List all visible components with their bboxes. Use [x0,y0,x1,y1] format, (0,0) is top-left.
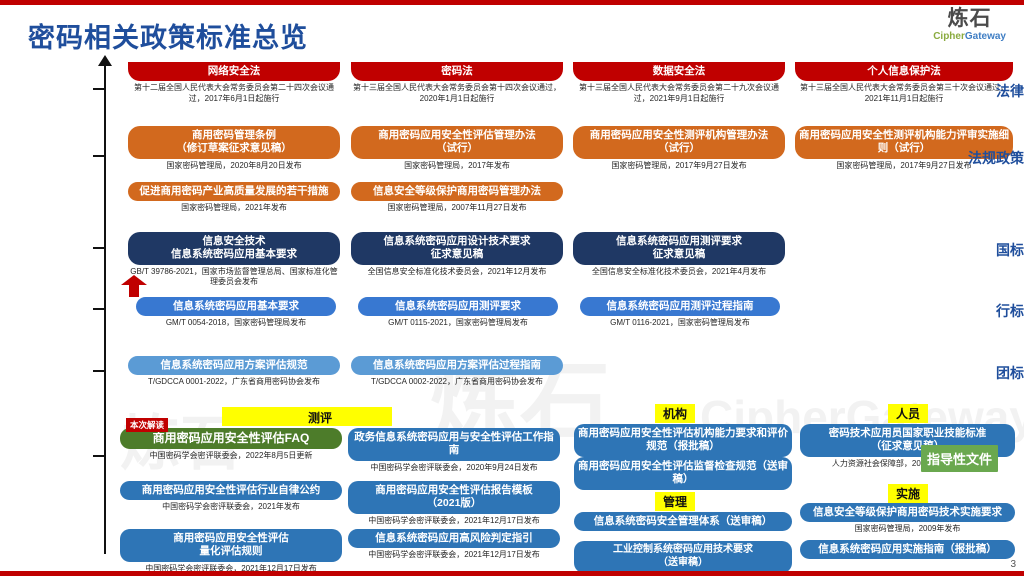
card-subtitle: 国家密码管理局，2021年发布 [128,201,340,213]
axis-tick-group [93,370,104,372]
card-regulation-1[interactable]: 商用密码应用安全性评估管理办法 （试行） 国家密码管理局，2017年发布 [351,126,563,171]
page-title: 密码相关政策标准总览 [28,16,308,55]
card-subtitle: 国家密码管理局，2017年9月27日发布 [573,159,785,171]
section-label-renyuan: 人员 [888,404,928,423]
highlight-badge: 本次解读 [126,418,168,432]
card-title: 政务信息系统密码应用与安全性评估工作指南 [348,428,560,461]
card-subtitle: GM/T 0116-2021，国家密码管理局发布 [580,316,780,328]
card-title: 促进商用密码产业高质量发展的若干措施 [128,182,340,201]
card-group-standard-1[interactable]: 信息系统密码应用方案评估过程指南 T/GDCCA 0002-2022，广东省商用… [351,356,563,388]
axis-tick-industry [93,308,104,310]
card-regulation-2[interactable]: 商用密码应用安全性测评机构管理办法 （试行） 国家密码管理局，2017年9月27… [573,126,785,171]
card-subtitle: 中国密码学会密评联委会，2022年8月5日更新 [120,449,342,461]
card-regulation-5[interactable]: 信息安全等级保护商用密码管理办法 国家密码管理局，2007年11月27日发布 [351,182,563,214]
bottom-accent-bar [0,571,1024,576]
card-title: 信息系统密码应用高风险判定指引 [348,529,560,548]
card-national-standard-2[interactable]: 信息系统密码应用测评要求 征求意见稿 全国信息安全标准化技术委员会，2021年4… [573,232,785,277]
card-subtitle: 国家密码管理局，2007年11月27日发布 [351,201,563,213]
axis-label-guidance-document: 指导性文件 [921,445,998,472]
card-title: 信息系统密码应用方案评估规范 [128,356,340,375]
card-title: 商用密码应用安全性评估报告模板 （2021版） [348,481,560,514]
brand-logo: 炼石 CipherGateway [933,8,1006,42]
card-title: 密码法 [351,62,563,81]
card-title: 数据安全法 [573,62,785,81]
card-title: 信息系统密码应用设计技术要求 征求意见稿 [351,232,563,265]
card-title: 信息系统密码应用测评要求 [358,297,558,316]
card-subtitle: 中国密码学会密评联委会，2021年发布 [120,500,342,512]
card-title: 信息系统密码应用方案评估过程指南 [351,356,563,375]
card-subtitle: 中国密码学会密评联委会，2021年12月17日发布 [348,514,560,526]
card-title: 信息系统密码安全管理体系（送审稿） [574,512,792,531]
card-guidance-ceping-0[interactable]: 商用密码应用安全性评估FAQ 中国密码学会密评联委会，2022年8月5日更新 [120,428,342,462]
card-regulation-0[interactable]: 商用密码管理条例 （修订草案征求意见稿） 国家密码管理局，2020年8月20日发… [128,126,340,171]
card-guidance-ceping-4[interactable]: 商用密码应用安全性评估报告模板 （2021版） 中国密码学会密评联委会，2021… [348,481,560,526]
card-title: 商用密码应用安全性评估 量化评估规则 [120,529,342,562]
axis-label-regulation: 法规政策 [936,148,1024,168]
card-title: 商用密码应用安全性评估行业自律公约 [120,481,342,500]
axis-label-law: 法律 [936,81,1024,101]
card-guidance-guanli-1[interactable]: 工业控制系统密码应用技术要求 （送审稿） [574,541,792,573]
card-title: 商用密码管理条例 （修订草案征求意见稿） [128,126,340,159]
card-subtitle: 国家密码管理局，2009年发布 [800,522,1015,534]
card-title: 信息安全技术 信息系统密码应用基本要求 [128,232,340,265]
card-subtitle: GB/T 39786-2021，国家市场监督管理总局、国家标准化管理委员会发布 [128,265,340,288]
card-title: 信息系统密码应用测评过程指南 [580,297,780,316]
card-subtitle: T/GDCCA 0002-2022，广东省商用密码协会发布 [351,375,563,387]
card-title: 信息系统密码应用基本要求 [136,297,336,316]
card-subtitle: 中国密码学会密评联委会，2021年12月17日发布 [348,548,560,560]
card-title: 信息系统密码应用测评要求 征求意见稿 [573,232,785,265]
card-title: 工业控制系统密码应用技术要求 （送审稿） [574,541,792,573]
card-subtitle: 第十三届全国人民代表大会常务委员会第二十九次会议通过，2021年9月1日起施行 [573,81,785,104]
axis-tick-guidance [93,455,104,457]
axis-tick-law [93,88,104,90]
card-title: 商用密码应用安全性评估监督检查规范（送审稿） [574,457,792,490]
section-label-jigou: 机构 [655,404,695,423]
axis-tick-regulation [93,155,104,157]
section-label-ceping: 测评 [300,408,340,427]
card-subtitle: 中国密码学会密评联委会，2020年9月24日发布 [348,461,560,473]
card-subtitle: 第十二届全国人民代表大会常务委员会第二十四次会议通过，2017年6月1日起施行 [128,81,340,104]
card-law-2[interactable]: 数据安全法 第十三届全国人民代表大会常务委员会第二十九次会议通过，2021年9月… [573,62,785,104]
card-guidance-shishi-0[interactable]: 信息安全等级保护商用密码技术实施要求 国家密码管理局，2009年发布 [800,503,1015,535]
axis-label-group-standard: 团标 [936,363,1024,383]
page-number: 3 [1010,559,1016,570]
category-axis-arrow-icon [98,55,112,66]
card-title: 信息安全等级保护商用密码技术实施要求 [800,503,1015,522]
card-national-standard-1[interactable]: 信息系统密码应用设计技术要求 征求意见稿 全国信息安全标准化技术委员会，2021… [351,232,563,277]
card-regulation-4[interactable]: 促进商用密码产业高质量发展的若干措施 国家密码管理局，2021年发布 [128,182,340,214]
card-subtitle: 国家密码管理局，2020年8月20日发布 [128,159,340,171]
card-law-1[interactable]: 密码法 第十三届全国人民代表大会常务委员会第十四次会议通过，2020年1月1日起… [351,62,563,104]
card-guidance-guanli-0[interactable]: 信息系统密码安全管理体系（送审稿） [574,512,792,531]
brand-logo-en-gateway: Gateway [965,31,1006,42]
highlight-up-arrow-icon [121,275,147,297]
card-industry-standard-0[interactable]: 信息系统密码应用基本要求 GM/T 0054-2018，国家密码管理局发布 [136,297,336,329]
axis-tick-national [93,247,104,249]
card-title: 信息安全等级保护商用密码管理办法 [351,182,563,201]
card-subtitle: 国家密码管理局，2017年发布 [351,159,563,171]
card-title: 商用密码应用安全性评估机构能力要求和评价规范（报批稿） [574,424,792,457]
axis-label-national-standard: 国标 [936,240,1024,260]
brand-logo-en: CipherGateway [933,32,1006,42]
card-industry-standard-1[interactable]: 信息系统密码应用测评要求 GM/T 0115-2021，国家密码管理局发布 [358,297,558,329]
card-subtitle: GM/T 0115-2021，国家密码管理局发布 [358,316,558,328]
card-title: 商用密码应用安全性测评机构管理办法 （试行） [573,126,785,159]
card-guidance-ceping-5[interactable]: 信息系统密码应用高风险判定指引 中国密码学会密评联委会，2021年12月17日发… [348,529,560,561]
card-subtitle: 全国信息安全标准化技术委员会，2021年4月发布 [573,265,785,277]
brand-logo-en-cipher: Cipher [933,31,965,42]
card-guidance-ceping-2[interactable]: 商用密码应用安全性评估 量化评估规则 中国密码学会密评联委会，2021年12月1… [120,529,342,574]
card-subtitle: T/GDCCA 0001-2022，广东省商用密码协会发布 [128,375,340,387]
card-group-standard-0[interactable]: 信息系统密码应用方案评估规范 T/GDCCA 0001-2022，广东省商用密码… [128,356,340,388]
card-law-0[interactable]: 网络安全法 第十二届全国人民代表大会常务委员会第二十四次会议通过，2017年6月… [128,62,340,104]
card-guidance-ceping-1[interactable]: 商用密码应用安全性评估行业自律公约 中国密码学会密评联委会，2021年发布 [120,481,342,513]
brand-logo-cn: 炼石 [933,8,1006,29]
section-label-guanli: 管理 [655,492,695,511]
card-title: 商用密码应用安全性评估管理办法 （试行） [351,126,563,159]
card-guidance-shishi-1[interactable]: 信息系统密码应用实施指南（报批稿） [800,540,1015,559]
card-subtitle: 第十三届全国人民代表大会常务委员会第十四次会议通过，2020年1月1日起施行 [351,81,563,104]
top-accent-bar [0,0,1024,5]
card-title: 信息系统密码应用实施指南（报批稿） [800,540,1015,559]
axis-label-industry-standard: 行标 [936,301,1024,321]
card-title: 个人信息保护法 [795,62,1013,81]
card-subtitle: GM/T 0054-2018，国家密码管理局发布 [136,316,336,328]
card-guidance-ceping-3[interactable]: 政务信息系统密码应用与安全性评估工作指南 中国密码学会密评联委会，2020年9月… [348,428,560,473]
section-label-shishi: 实施 [888,484,928,503]
card-industry-standard-2[interactable]: 信息系统密码应用测评过程指南 GM/T 0116-2021，国家密码管理局发布 [580,297,780,329]
card-guidance-jigou-0[interactable]: 商用密码应用安全性评估机构能力要求和评价规范（报批稿） [574,424,792,457]
category-axis-line [104,62,106,554]
card-subtitle: 全国信息安全标准化技术委员会，2021年12月发布 [351,265,563,277]
card-national-standard-0[interactable]: 信息安全技术 信息系统密码应用基本要求 GB/T 39786-2021，国家市场… [128,232,340,288]
card-title: 网络安全法 [128,62,340,81]
card-guidance-jigou-1[interactable]: 商用密码应用安全性评估监督检查规范（送审稿） [574,457,792,490]
